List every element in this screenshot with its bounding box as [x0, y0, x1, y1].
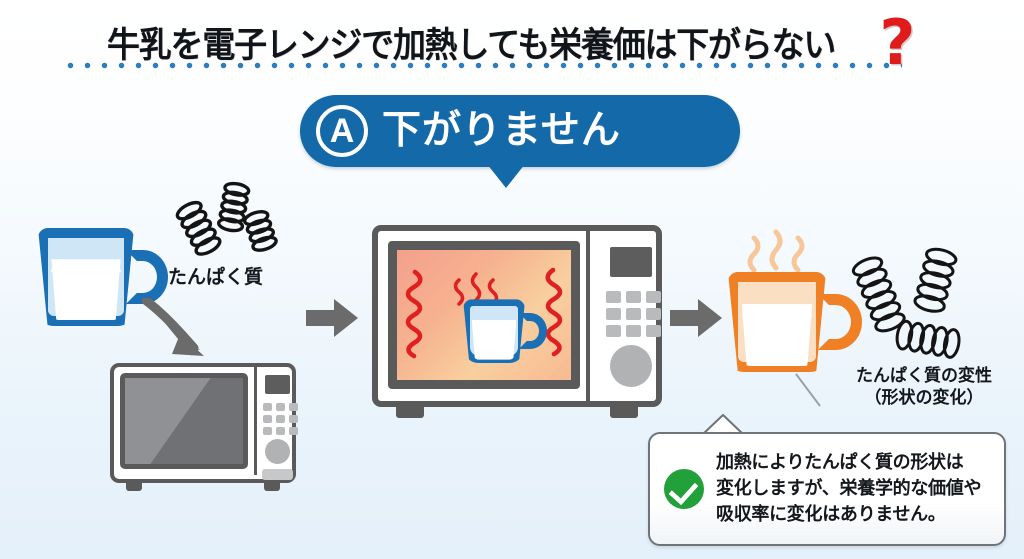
callout-leader-line — [790, 372, 850, 437]
page-title: 牛乳を電子レンジで加熱しても栄養価は下がらない? — [0, 14, 1024, 68]
microwave-small-foot — [264, 483, 280, 491]
answer-text: 下がりません — [382, 109, 621, 153]
keypad-key — [626, 291, 641, 303]
callout-tail — [700, 414, 746, 434]
microwave-small-divider — [254, 367, 257, 475]
microwave-large-divider — [586, 231, 590, 401]
microwave-small-display — [265, 375, 290, 394]
keypad-key — [606, 325, 621, 337]
microwave-large-dial — [610, 345, 652, 387]
keypad-key — [646, 325, 661, 337]
microwave-large-foot — [396, 407, 424, 418]
infographic-canvas: 牛乳を電子レンジで加熱しても栄養価は下がらない? A 下がりません — [0, 0, 1024, 559]
answer-bubble: A 下がりません — [300, 95, 740, 167]
denatured-label-line1: たんぱく質の変性 — [826, 365, 1022, 387]
arrow-right-2-icon — [668, 296, 724, 345]
keypad-key — [289, 427, 298, 435]
keypad-key — [276, 427, 285, 435]
callout-line-2: 変化しますが、栄養学的な価値や — [716, 476, 981, 502]
answer-badge: A — [316, 105, 368, 157]
denatured-label-line2: （形状の変化） — [826, 387, 1022, 409]
denatured-protein-label: たんぱく質の変性 （形状の変化） — [826, 365, 1022, 409]
microwave-cavity — [397, 250, 571, 380]
hot-milk-mug — [728, 272, 826, 372]
callout-line-3: 吸収率に変化はありません。 — [716, 502, 981, 528]
keypad-key — [263, 415, 272, 423]
answer-bubble-tail — [487, 164, 525, 188]
keypad-key — [606, 308, 621, 320]
microwave-small-keypad — [263, 403, 298, 435]
microwave-small-button — [262, 469, 293, 480]
microwave-large-foot — [610, 407, 638, 418]
callout-line-1: 加熱によりたんぱく質の形状は — [716, 450, 981, 476]
title-underline-dots — [62, 62, 902, 69]
microwave-large-display — [610, 247, 652, 277]
microwave-small-door-window — [120, 373, 248, 469]
microwave-large-keypad — [606, 291, 661, 337]
keypad-key — [606, 291, 621, 303]
keypad-key — [263, 403, 272, 411]
keypad-key — [263, 427, 272, 435]
keypad-key — [646, 291, 661, 303]
keypad-key — [289, 415, 298, 423]
microwave-large-door — [388, 241, 580, 389]
microwave-small — [110, 363, 296, 483]
keypad-key — [276, 403, 285, 411]
keypad-key — [626, 325, 641, 337]
microwave-small-foot — [126, 483, 142, 491]
check-circle-icon — [664, 469, 704, 509]
question-mark-icon: ? — [879, 21, 915, 65]
keypad-key — [276, 415, 285, 423]
microwave-small-dial — [265, 439, 290, 464]
denatured-coil-3 — [880, 310, 984, 370]
hot-mug-steam-icon — [742, 222, 814, 279]
callout-box: 加熱によりたんぱく質の形状は 変化しますが、栄養学的な価値や 吸収率に変化はあり… — [648, 432, 1006, 546]
cold-milk-mug — [38, 228, 134, 326]
mug-handle — [126, 250, 168, 304]
microwave-large — [372, 225, 662, 407]
arrow-curved-down-icon — [142, 298, 220, 369]
keypad-key — [626, 308, 641, 320]
milk-mug-in-microwave — [463, 299, 525, 363]
arrow-right-1-icon — [304, 296, 360, 345]
protein-label: たんぱく質 — [168, 262, 263, 289]
callout-text: 加熱によりたんぱく質の形状は 変化しますが、栄養学的な価値や 吸収率に変化はあり… — [716, 450, 981, 528]
keypad-key — [646, 308, 661, 320]
keypad-key — [289, 403, 298, 411]
